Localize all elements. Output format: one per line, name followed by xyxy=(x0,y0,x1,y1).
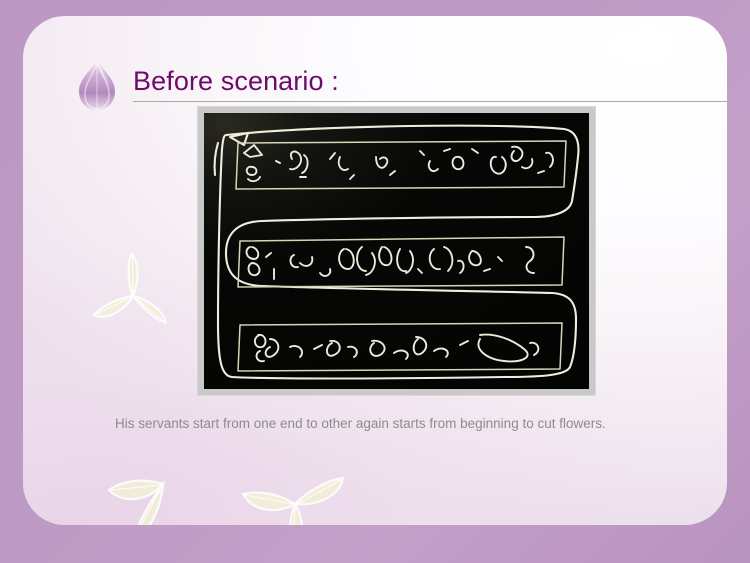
title-underline-rule xyxy=(133,101,727,102)
tulip-icon xyxy=(73,58,121,112)
slide-caption: His servants start from one end to other… xyxy=(115,414,718,433)
slide-content-panel: Before scenario : xyxy=(23,16,727,525)
leaf-cluster-bottom-left xyxy=(101,448,221,525)
leaf-cluster-left-upper xyxy=(85,248,181,344)
leaf-cluster-bottom-center xyxy=(235,454,353,525)
slide: Before scenario : xyxy=(0,0,750,563)
photo-boustrophedon-diagram xyxy=(204,113,589,389)
photo-frame xyxy=(198,107,595,395)
page-title: Before scenario : xyxy=(133,65,339,97)
